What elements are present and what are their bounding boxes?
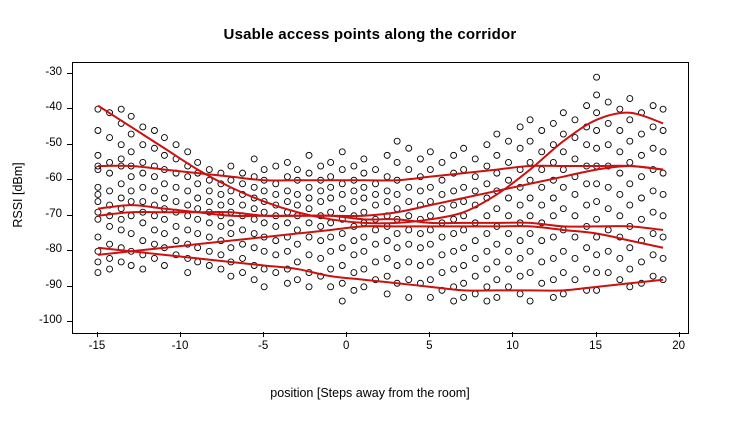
data-point bbox=[140, 159, 146, 165]
data-point bbox=[461, 263, 467, 269]
data-point bbox=[660, 149, 666, 155]
data-point bbox=[173, 238, 179, 244]
data-point bbox=[195, 181, 201, 187]
data-point bbox=[195, 245, 201, 251]
data-point bbox=[206, 263, 212, 269]
data-point bbox=[605, 206, 611, 212]
data-point bbox=[306, 284, 312, 290]
y-tick-label: -30 bbox=[32, 66, 62, 78]
data-point bbox=[484, 266, 490, 272]
data-point bbox=[627, 266, 633, 272]
data-point bbox=[484, 163, 490, 169]
data-point bbox=[650, 231, 656, 237]
data-point bbox=[451, 152, 457, 158]
x-tick-label: -5 bbox=[246, 340, 280, 352]
data-point bbox=[517, 255, 523, 261]
data-point bbox=[494, 259, 500, 265]
data-point bbox=[505, 248, 511, 254]
data-point bbox=[284, 188, 290, 194]
data-point bbox=[638, 131, 644, 137]
data-point bbox=[161, 135, 167, 141]
data-point bbox=[173, 223, 179, 229]
data-point bbox=[218, 202, 224, 208]
data-point bbox=[617, 213, 623, 219]
data-point bbox=[439, 177, 445, 183]
data-point bbox=[406, 259, 412, 265]
data-point bbox=[228, 273, 234, 279]
data-point bbox=[560, 167, 566, 173]
data-point bbox=[417, 188, 423, 194]
data-point bbox=[517, 238, 523, 244]
data-point bbox=[173, 199, 179, 205]
data-point bbox=[373, 202, 379, 208]
data-point bbox=[461, 245, 467, 251]
data-point bbox=[472, 238, 478, 244]
y-tick-label: -50 bbox=[32, 137, 62, 149]
data-point bbox=[251, 277, 257, 283]
data-point bbox=[461, 227, 467, 233]
data-point bbox=[527, 159, 533, 165]
data-point bbox=[328, 248, 334, 254]
x-tick-label: 15 bbox=[579, 340, 613, 352]
data-point bbox=[118, 195, 124, 201]
data-point bbox=[539, 202, 545, 208]
data-point bbox=[439, 252, 445, 258]
data-point bbox=[494, 152, 500, 158]
data-point bbox=[572, 156, 578, 162]
data-point bbox=[373, 259, 379, 265]
data-point bbox=[627, 245, 633, 251]
data-point bbox=[95, 209, 101, 215]
trend-line bbox=[98, 166, 663, 216]
data-point bbox=[627, 284, 633, 290]
data-point bbox=[95, 191, 101, 197]
data-point bbox=[306, 195, 312, 201]
data-point bbox=[128, 213, 134, 219]
data-point bbox=[517, 145, 523, 151]
data-point bbox=[605, 120, 611, 126]
data-point bbox=[161, 152, 167, 158]
data-point bbox=[128, 149, 134, 155]
data-point bbox=[539, 280, 545, 286]
data-point bbox=[494, 294, 500, 300]
data-point bbox=[240, 227, 246, 233]
data-point bbox=[472, 188, 478, 194]
data-point bbox=[439, 270, 445, 276]
data-point bbox=[584, 103, 590, 109]
x-tick-label: 0 bbox=[329, 340, 363, 352]
y-tick-label: -100 bbox=[32, 314, 62, 326]
data-point bbox=[273, 238, 279, 244]
data-point bbox=[161, 195, 167, 201]
data-point bbox=[251, 216, 257, 222]
data-point bbox=[228, 177, 234, 183]
data-point bbox=[185, 213, 191, 219]
data-point bbox=[228, 231, 234, 237]
data-point bbox=[560, 291, 566, 297]
data-point bbox=[118, 181, 124, 187]
data-point bbox=[206, 188, 212, 194]
data-point bbox=[605, 184, 611, 190]
data-point bbox=[140, 124, 146, 130]
data-point bbox=[273, 181, 279, 187]
data-point bbox=[617, 128, 623, 134]
data-point bbox=[484, 142, 490, 148]
plot-area bbox=[72, 62, 689, 334]
data-point bbox=[594, 199, 600, 205]
data-point bbox=[617, 149, 623, 155]
data-point bbox=[494, 241, 500, 247]
data-point bbox=[394, 263, 400, 269]
data-point bbox=[439, 191, 445, 197]
data-point bbox=[617, 255, 623, 261]
data-point bbox=[451, 202, 457, 208]
data-point bbox=[140, 220, 146, 226]
data-point bbox=[627, 181, 633, 187]
data-point bbox=[594, 287, 600, 293]
data-point bbox=[384, 199, 390, 205]
data-point bbox=[417, 231, 423, 237]
data-point bbox=[118, 142, 124, 148]
data-point bbox=[318, 188, 324, 194]
data-point bbox=[550, 213, 556, 219]
data-point bbox=[294, 202, 300, 208]
data-point bbox=[273, 270, 279, 276]
data-point bbox=[650, 252, 656, 258]
data-point bbox=[527, 138, 533, 144]
data-point bbox=[107, 135, 113, 141]
data-point bbox=[605, 99, 611, 105]
data-point bbox=[427, 294, 433, 300]
trend-lines-group bbox=[98, 106, 663, 291]
data-point bbox=[118, 156, 124, 162]
data-point bbox=[107, 188, 113, 194]
data-point bbox=[650, 145, 656, 151]
data-point bbox=[660, 128, 666, 134]
data-point bbox=[294, 259, 300, 265]
data-point bbox=[273, 252, 279, 258]
data-point bbox=[173, 142, 179, 148]
data-point bbox=[650, 273, 656, 279]
data-point bbox=[605, 142, 611, 148]
data-point bbox=[560, 248, 566, 254]
x-tick-label: 10 bbox=[495, 340, 529, 352]
data-point bbox=[517, 124, 523, 130]
data-point bbox=[584, 142, 590, 148]
data-point bbox=[427, 167, 433, 173]
scatter-plot-svg bbox=[73, 63, 688, 333]
data-point bbox=[617, 170, 623, 176]
data-point bbox=[550, 234, 556, 240]
data-point bbox=[373, 167, 379, 173]
data-points-group bbox=[95, 74, 666, 304]
data-point bbox=[494, 131, 500, 137]
data-point bbox=[439, 234, 445, 240]
data-point bbox=[228, 199, 234, 205]
data-point bbox=[494, 170, 500, 176]
data-point bbox=[195, 259, 201, 265]
data-point bbox=[660, 170, 666, 176]
data-point bbox=[527, 270, 533, 276]
data-point bbox=[505, 138, 511, 144]
data-point bbox=[318, 238, 324, 244]
data-point bbox=[206, 248, 212, 254]
data-point bbox=[206, 220, 212, 226]
data-point bbox=[527, 298, 533, 304]
data-point bbox=[505, 195, 511, 201]
data-point bbox=[251, 245, 257, 251]
data-point bbox=[185, 227, 191, 233]
data-point bbox=[406, 167, 412, 173]
data-point bbox=[306, 252, 312, 258]
data-point bbox=[394, 191, 400, 197]
data-point bbox=[527, 231, 533, 237]
data-point bbox=[539, 167, 545, 173]
data-point bbox=[572, 277, 578, 283]
data-point bbox=[550, 255, 556, 261]
data-point bbox=[384, 273, 390, 279]
data-point bbox=[339, 263, 345, 269]
data-point bbox=[427, 227, 433, 233]
data-point bbox=[572, 213, 578, 219]
data-point bbox=[351, 238, 357, 244]
data-point bbox=[660, 106, 666, 112]
data-point bbox=[484, 181, 490, 187]
data-point bbox=[151, 145, 157, 151]
data-point bbox=[451, 216, 457, 222]
data-point bbox=[373, 181, 379, 187]
y-tick-label: -70 bbox=[32, 208, 62, 220]
data-point bbox=[484, 231, 490, 237]
data-point bbox=[550, 277, 556, 283]
data-point bbox=[351, 188, 357, 194]
data-point bbox=[228, 163, 234, 169]
data-point bbox=[484, 298, 490, 304]
data-point bbox=[627, 138, 633, 144]
data-point bbox=[527, 213, 533, 219]
data-point bbox=[605, 248, 611, 254]
x-tick-label: 20 bbox=[662, 340, 696, 352]
data-point bbox=[427, 184, 433, 190]
data-point bbox=[461, 294, 467, 300]
data-point bbox=[339, 191, 345, 197]
data-point bbox=[240, 255, 246, 261]
data-point bbox=[660, 213, 666, 219]
data-point bbox=[572, 135, 578, 141]
data-point bbox=[140, 199, 146, 205]
data-point bbox=[439, 206, 445, 212]
data-point bbox=[128, 199, 134, 205]
data-point bbox=[185, 188, 191, 194]
data-point bbox=[95, 128, 101, 134]
data-point bbox=[384, 152, 390, 158]
data-point bbox=[339, 245, 345, 251]
data-point bbox=[384, 238, 390, 244]
data-point bbox=[118, 106, 124, 112]
data-point bbox=[594, 270, 600, 276]
data-point bbox=[118, 227, 124, 233]
data-point bbox=[328, 159, 334, 165]
data-point bbox=[351, 199, 357, 205]
data-point bbox=[594, 234, 600, 240]
data-point bbox=[451, 298, 457, 304]
data-point bbox=[494, 277, 500, 283]
data-point bbox=[638, 259, 644, 265]
data-point bbox=[306, 206, 312, 212]
data-point bbox=[95, 199, 101, 205]
data-point bbox=[417, 263, 423, 269]
data-point bbox=[361, 266, 367, 272]
data-point bbox=[539, 128, 545, 134]
data-point bbox=[351, 270, 357, 276]
data-point bbox=[195, 216, 201, 222]
data-point bbox=[451, 266, 457, 272]
data-point bbox=[195, 206, 201, 212]
y-tick-label: -80 bbox=[32, 243, 62, 255]
data-point bbox=[140, 142, 146, 148]
data-point bbox=[384, 255, 390, 261]
data-point bbox=[228, 220, 234, 226]
trend-line bbox=[98, 226, 663, 255]
data-point bbox=[251, 156, 257, 162]
data-point bbox=[240, 270, 246, 276]
data-point bbox=[461, 167, 467, 173]
data-point bbox=[505, 213, 511, 219]
data-point bbox=[427, 149, 433, 155]
data-point bbox=[550, 120, 556, 126]
data-point bbox=[584, 181, 590, 187]
data-point bbox=[118, 259, 124, 265]
data-point bbox=[484, 284, 490, 290]
data-point bbox=[261, 167, 267, 173]
data-point bbox=[185, 174, 191, 180]
data-point bbox=[240, 181, 246, 187]
y-tick-label: -40 bbox=[32, 101, 62, 113]
data-point bbox=[206, 199, 212, 205]
data-point bbox=[617, 191, 623, 197]
data-point bbox=[128, 263, 134, 269]
data-point bbox=[484, 248, 490, 254]
page-title: Usable access points along the corridor bbox=[0, 26, 740, 43]
data-point bbox=[173, 184, 179, 190]
data-point bbox=[328, 266, 334, 272]
data-point bbox=[427, 277, 433, 283]
data-point bbox=[361, 184, 367, 190]
data-point bbox=[394, 159, 400, 165]
data-point bbox=[505, 266, 511, 272]
x-tick-label: -15 bbox=[80, 340, 114, 352]
data-point bbox=[251, 206, 257, 212]
data-point bbox=[151, 188, 157, 194]
data-point bbox=[161, 263, 167, 269]
data-point bbox=[107, 170, 113, 176]
data-point bbox=[638, 216, 644, 222]
data-point bbox=[594, 216, 600, 222]
x-axis-label: position [Steps away from the room] bbox=[0, 386, 740, 400]
data-point bbox=[294, 167, 300, 173]
data-point bbox=[505, 284, 511, 290]
data-point bbox=[251, 184, 257, 190]
data-point bbox=[594, 252, 600, 258]
data-point bbox=[294, 277, 300, 283]
data-point bbox=[328, 220, 334, 226]
data-point bbox=[185, 270, 191, 276]
data-point bbox=[472, 156, 478, 162]
data-point bbox=[206, 167, 212, 173]
data-point bbox=[351, 252, 357, 258]
data-point bbox=[605, 227, 611, 233]
data-point bbox=[261, 220, 267, 226]
data-point bbox=[328, 195, 334, 201]
data-point bbox=[107, 255, 113, 261]
data-point bbox=[427, 241, 433, 247]
data-point bbox=[206, 234, 212, 240]
data-point bbox=[650, 188, 656, 194]
data-point bbox=[660, 191, 666, 197]
data-point bbox=[318, 163, 324, 169]
data-point bbox=[95, 216, 101, 222]
data-point bbox=[572, 117, 578, 123]
data-point bbox=[95, 234, 101, 240]
data-point bbox=[151, 174, 157, 180]
data-point bbox=[261, 284, 267, 290]
data-point bbox=[451, 188, 457, 194]
data-point bbox=[294, 191, 300, 197]
data-point bbox=[451, 231, 457, 237]
data-point bbox=[95, 259, 101, 265]
data-point bbox=[218, 223, 224, 229]
data-point bbox=[151, 241, 157, 247]
data-point bbox=[505, 177, 511, 183]
data-point bbox=[218, 191, 224, 197]
data-point bbox=[284, 248, 290, 254]
data-point bbox=[594, 128, 600, 134]
data-point bbox=[284, 220, 290, 226]
data-point bbox=[406, 199, 412, 205]
data-point bbox=[273, 163, 279, 169]
data-point bbox=[617, 277, 623, 283]
data-point bbox=[185, 149, 191, 155]
data-point bbox=[660, 234, 666, 240]
data-point bbox=[351, 163, 357, 169]
data-point bbox=[361, 284, 367, 290]
data-point bbox=[594, 74, 600, 80]
data-point bbox=[472, 174, 478, 180]
data-point bbox=[284, 280, 290, 286]
data-point bbox=[195, 159, 201, 165]
data-point bbox=[572, 191, 578, 197]
data-point bbox=[373, 227, 379, 233]
data-point bbox=[560, 270, 566, 276]
data-point bbox=[584, 202, 590, 208]
data-point bbox=[461, 145, 467, 151]
data-point bbox=[439, 159, 445, 165]
data-point bbox=[594, 92, 600, 98]
data-point bbox=[195, 231, 201, 237]
data-point bbox=[361, 234, 367, 240]
data-point bbox=[351, 287, 357, 293]
data-point bbox=[128, 231, 134, 237]
data-point bbox=[218, 266, 224, 272]
data-point bbox=[505, 159, 511, 165]
data-point bbox=[394, 245, 400, 251]
data-point bbox=[660, 255, 666, 261]
data-point bbox=[517, 273, 523, 279]
data-point bbox=[472, 255, 478, 261]
data-point bbox=[273, 191, 279, 197]
trend-line bbox=[98, 248, 663, 291]
data-point bbox=[550, 294, 556, 300]
